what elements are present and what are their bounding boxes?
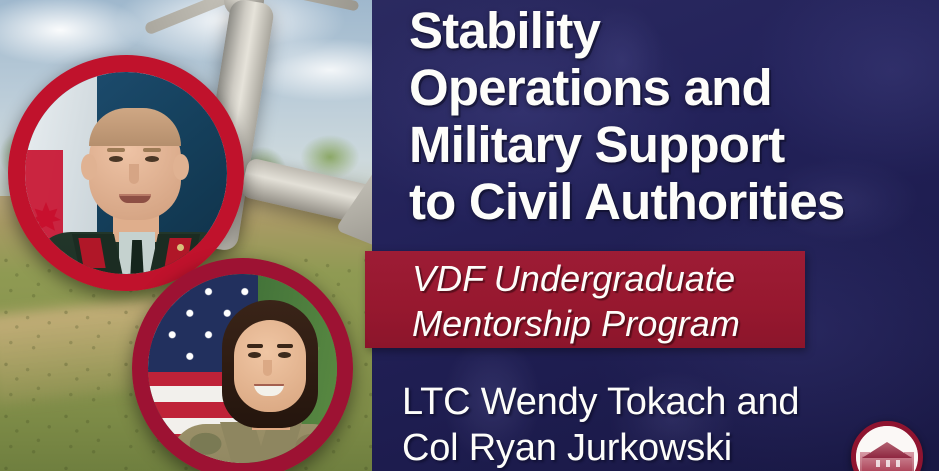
portrait-photo bbox=[25, 72, 227, 274]
ear-left bbox=[81, 154, 97, 180]
slide-title: Stability Operations and Military Suppor… bbox=[409, 2, 934, 230]
eyebrow-left bbox=[107, 148, 125, 152]
subtitle-band: VDF Undergraduate Mentorship Program bbox=[365, 251, 805, 348]
portrait-ltc-wendy-tokach: TOKACH U.S. ARMY bbox=[132, 258, 353, 471]
logo-inner bbox=[856, 426, 918, 471]
presentation-slide: Stability Operations and Military Suppor… bbox=[0, 0, 939, 471]
logo-roof bbox=[862, 442, 912, 458]
eye-left bbox=[248, 352, 261, 358]
rank-pip bbox=[189, 250, 196, 257]
ear-right bbox=[173, 154, 189, 180]
logo-window bbox=[896, 460, 900, 467]
eye-right bbox=[145, 156, 159, 162]
rank-pip bbox=[201, 256, 208, 263]
rotor-blade bbox=[144, 0, 297, 36]
eye-right bbox=[278, 352, 291, 358]
slide-subtitle: VDF Undergraduate Mentorship Program bbox=[412, 256, 802, 346]
presenter-names: LTC Wendy Tokach and Col Ryan Jurkowski bbox=[402, 379, 872, 471]
rank-pip bbox=[177, 244, 184, 251]
eyebrow-right bbox=[277, 344, 293, 348]
nose bbox=[263, 360, 272, 376]
eyebrow-left bbox=[247, 344, 263, 348]
portrait-col-ryan-jurkowski bbox=[8, 55, 244, 291]
logo-window bbox=[876, 460, 880, 467]
mouth bbox=[119, 194, 151, 203]
logo-window bbox=[886, 460, 890, 467]
nose bbox=[129, 164, 139, 184]
eye-left bbox=[109, 156, 123, 162]
eyebrow-right bbox=[143, 148, 161, 152]
portrait-photo: TOKACH U.S. ARMY bbox=[148, 274, 337, 463]
